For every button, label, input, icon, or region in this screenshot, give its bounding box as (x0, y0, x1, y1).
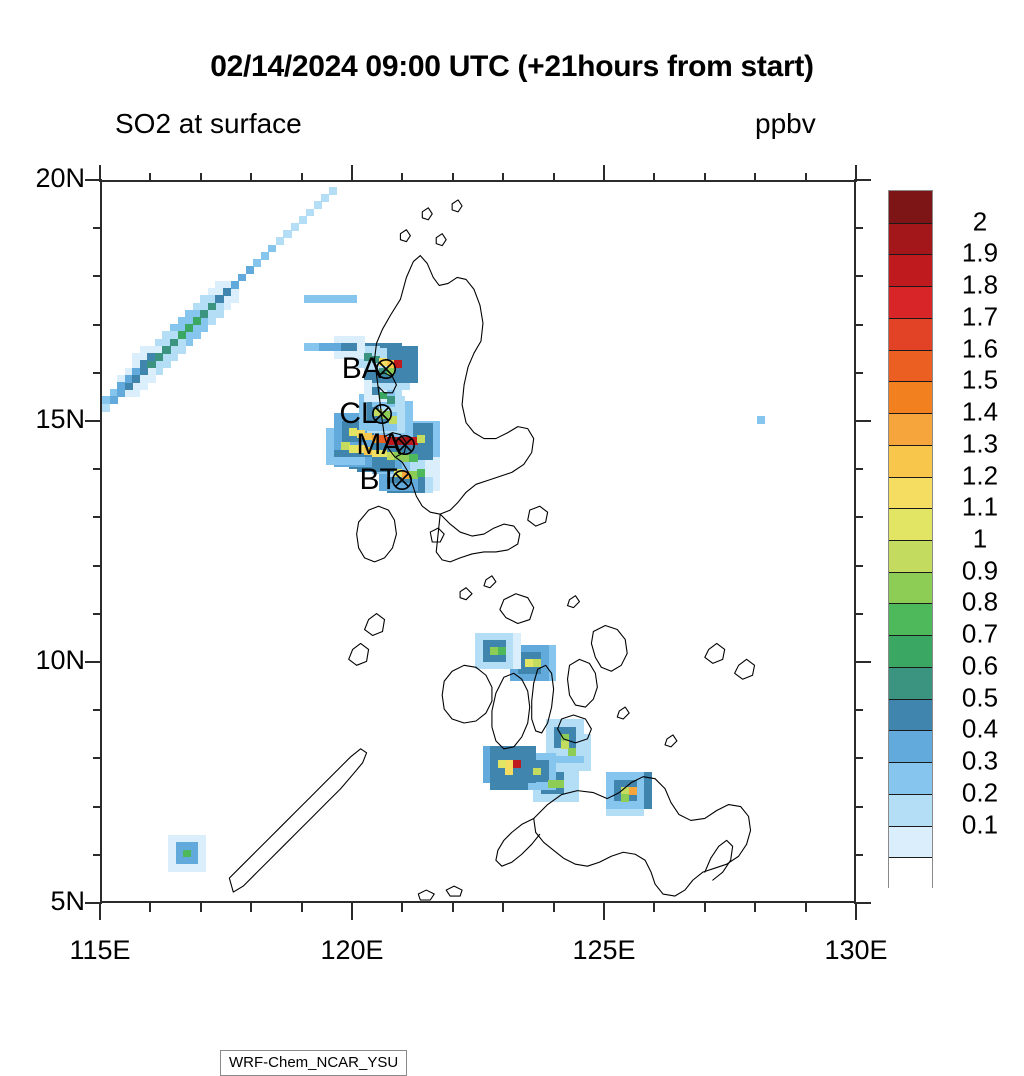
y-minor-tick-right (854, 324, 863, 326)
coastline-overlay (102, 182, 854, 901)
y-minor-tick-right (854, 516, 863, 518)
y-minor-tick-right (854, 468, 863, 470)
colorbar-band (889, 286, 932, 318)
colorbar-band (889, 730, 932, 762)
colorbar-divider (889, 572, 932, 573)
colorbar-tick-label: 1.3 (941, 428, 1019, 459)
x-axis-label: 130E (786, 935, 926, 966)
x-minor-tick (200, 903, 202, 912)
colorbar-tick-label: 1.7 (941, 301, 1019, 332)
x-minor-tick-top (301, 173, 303, 182)
y-minor-tick-right (854, 757, 863, 759)
colorbar-divider (889, 794, 932, 795)
y-minor-tick-right (854, 227, 863, 229)
colorbar-divider (889, 318, 932, 319)
colorbar-band (889, 413, 932, 445)
y-minor-tick (93, 709, 102, 711)
colorbar-tick-label: 0.6 (941, 650, 1019, 681)
colorbar-band (889, 381, 932, 413)
y-major-tick (85, 902, 102, 904)
colorbar-tick-label: 1.9 (941, 238, 1019, 269)
y-minor-tick-right (854, 709, 863, 711)
x-axis-label: 125E (534, 935, 674, 966)
colorbar-band (889, 667, 932, 699)
colorbar-divider (889, 413, 932, 414)
colorbar-divider (889, 730, 932, 731)
colorbar[interactable] (888, 190, 933, 888)
colorbar-divider (889, 508, 932, 509)
colorbar-divider (889, 381, 932, 382)
x-minor-tick (149, 903, 151, 912)
x-minor-tick-top (250, 173, 252, 182)
colorbar-divider (889, 762, 932, 763)
y-minor-tick-right (854, 565, 863, 567)
colorbar-band (889, 635, 932, 667)
x-minor-tick-top (149, 173, 151, 182)
colorbar-band (889, 762, 932, 794)
colorbar-band (889, 603, 932, 635)
x-major-tick (603, 903, 605, 920)
y-minor-tick-right (854, 275, 863, 277)
map-plot-area[interactable]: BACLMABT WRF-Chem_NCAR_YSU (100, 180, 856, 903)
colorbar-tick-label: 1.5 (941, 365, 1019, 396)
colorbar-divider (889, 603, 932, 604)
colorbar-band (889, 857, 932, 889)
colorbar-divider (889, 667, 932, 668)
x-axis-label: 115E (30, 935, 170, 966)
x-minor-tick-top (653, 173, 655, 182)
y-minor-tick (93, 806, 102, 808)
colorbar-band (889, 508, 932, 540)
colorbar-tick-label: 0.2 (941, 777, 1019, 808)
colorbar-tick-label: 0.3 (941, 746, 1019, 777)
y-minor-tick (93, 227, 102, 229)
y-minor-tick (93, 275, 102, 277)
colorbar-tick-label: 0.5 (941, 682, 1019, 713)
colorbar-divider (889, 857, 932, 858)
colorbar-tick-label: 1.8 (941, 270, 1019, 301)
colorbar-divider (889, 445, 932, 446)
station-label: CL (339, 397, 377, 431)
y-major-tick-right (854, 420, 871, 422)
colorbar-band (889, 699, 932, 731)
x-major-tick-top (351, 165, 353, 182)
y-minor-tick (93, 854, 102, 856)
colorbar-band (889, 540, 932, 572)
colorbar-tick-label: 2 (941, 206, 1019, 237)
x-minor-tick-top (553, 173, 555, 182)
station-label: BA (342, 352, 382, 386)
y-minor-tick-right (854, 806, 863, 808)
x-minor-tick (502, 903, 504, 912)
x-minor-tick (250, 903, 252, 912)
colorbar-band (889, 191, 932, 223)
units-label: ppbv (755, 108, 816, 140)
x-minor-tick (704, 903, 706, 912)
colorbar-divider (889, 286, 932, 287)
y-minor-tick (93, 468, 102, 470)
colorbar-tick-label: 0.1 (941, 809, 1019, 840)
x-major-tick (99, 903, 101, 920)
y-major-tick (85, 420, 102, 422)
plot-subtitle: SO2 at surface (115, 108, 302, 140)
x-major-tick (351, 903, 353, 920)
colorbar-divider (889, 540, 932, 541)
colorbar-band (889, 318, 932, 350)
colorbar-divider (889, 254, 932, 255)
colorbar-tick-label: 1.2 (941, 460, 1019, 491)
x-minor-tick (653, 903, 655, 912)
x-axis-label: 120E (282, 935, 422, 966)
x-minor-tick-top (754, 173, 756, 182)
y-minor-tick-right (854, 372, 863, 374)
y-major-tick-right (854, 902, 871, 904)
x-minor-tick (401, 903, 403, 912)
colorbar-divider (889, 826, 932, 827)
colorbar-divider (889, 699, 932, 700)
colorbar-band (889, 223, 932, 255)
colorbar-tick-label: 1 (941, 524, 1019, 555)
x-minor-tick-top (200, 173, 202, 182)
y-minor-tick (93, 324, 102, 326)
station-label: BT (360, 463, 398, 497)
y-axis-label: 15N (0, 404, 85, 435)
colorbar-band (889, 826, 932, 858)
colorbar-tick-label: 1.6 (941, 333, 1019, 364)
colorbar-tick-label: 1.4 (941, 397, 1019, 428)
y-minor-tick (93, 613, 102, 615)
colorbar-band (889, 254, 932, 286)
y-minor-tick (93, 372, 102, 374)
colorbar-tick-label: 0.9 (941, 555, 1019, 586)
y-minor-tick-right (854, 613, 863, 615)
y-axis-label: 10N (0, 645, 85, 676)
y-axis-label: 20N (0, 163, 85, 194)
colorbar-band (889, 794, 932, 826)
colorbar-tick-label: 0.4 (941, 714, 1019, 745)
colorbar-divider (889, 635, 932, 636)
colorbar-band (889, 350, 932, 382)
y-axis-label: 5N (0, 886, 85, 917)
station-label: MA (356, 428, 401, 462)
x-minor-tick (553, 903, 555, 912)
y-major-tick-right (854, 179, 871, 181)
colorbar-tick-label: 0.8 (941, 587, 1019, 618)
colorbar-band (889, 572, 932, 604)
page-title: 02/14/2024 09:00 UTC (+21hours from star… (0, 50, 1024, 84)
y-minor-tick (93, 757, 102, 759)
x-major-tick-top (603, 165, 605, 182)
x-minor-tick (301, 903, 303, 912)
model-tag-label: WRF-Chem_NCAR_YSU (220, 1050, 407, 1076)
x-minor-tick-top (704, 173, 706, 182)
x-minor-tick (754, 903, 756, 912)
colorbar-band (889, 477, 932, 509)
y-major-tick (85, 179, 102, 181)
x-minor-tick-top (502, 173, 504, 182)
x-minor-tick-top (805, 173, 807, 182)
y-minor-tick-right (854, 854, 863, 856)
colorbar-tick-label: 0.7 (941, 619, 1019, 650)
x-minor-tick-top (452, 173, 454, 182)
colorbar-divider (889, 223, 932, 224)
x-major-tick (855, 903, 857, 920)
x-minor-tick (452, 903, 454, 912)
colorbar-divider (889, 477, 932, 478)
colorbar-tick-label: 1.1 (941, 492, 1019, 523)
y-major-tick (85, 661, 102, 663)
x-minor-tick-top (401, 173, 403, 182)
y-minor-tick (93, 565, 102, 567)
x-minor-tick (805, 903, 807, 912)
colorbar-divider (889, 350, 932, 351)
y-minor-tick (93, 516, 102, 518)
y-major-tick-right (854, 661, 871, 663)
colorbar-band (889, 445, 932, 477)
